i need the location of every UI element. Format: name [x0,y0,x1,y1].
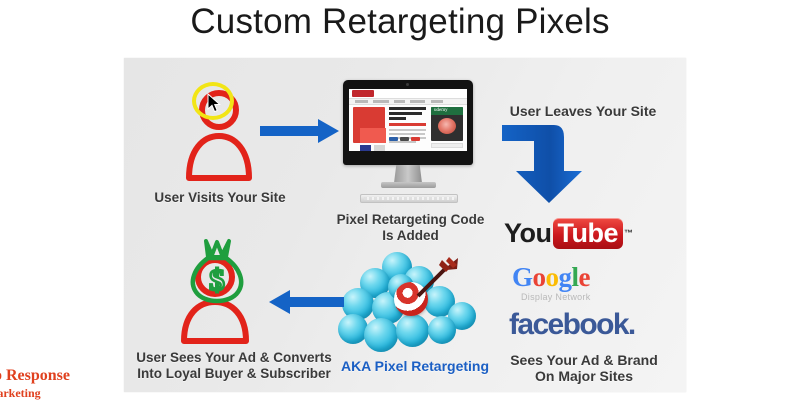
label-user-visits: User Visits Your Site [132,190,308,206]
webpage-header [349,89,467,98]
webcam-dot-icon [406,83,409,86]
label-sees-ad: Sees Your Ad & Brand On Major Sites [487,352,681,384]
webpage-nav [349,98,467,105]
monitor-stand [394,165,422,183]
google-letter-g2: g [559,262,572,292]
facebook-logo: facebook. [509,309,635,341]
youtube-tube-text: Tube [553,218,624,249]
watermark: eb Response Marketing [0,368,70,401]
svg-text:$: $ [209,262,225,297]
youtube-you-text: You [504,218,552,248]
watermark-line-1: eb Response [0,367,70,384]
label-pixel-code: Pixel Retargeting Code Is Added [318,212,503,244]
google-letter-o2: o [546,262,559,292]
webpage-course-card: udemy [431,107,463,141]
google-letter-l: l [572,262,579,292]
arrow-right-icon [260,118,340,149]
google-display-network-subtitle: Display Network [521,292,591,302]
mouse-cursor-icon [207,93,221,118]
money-bag-icon: $ [186,238,248,313]
label-user-converts: User Sees Your Ad & Converts Into Loyal … [125,350,343,382]
label-aka-pixel: AKA Pixel Retargeting [335,358,495,374]
arrow-bent-down-icon [502,123,588,210]
google-letter-o1: o [533,262,546,292]
monitor-bezel: udemy [343,80,473,165]
sphere-cluster-icon [338,252,490,357]
google-letter-e: e [579,262,590,292]
arrow-left-icon [268,289,344,320]
google-logo: Google [512,263,590,292]
webpage-card-caption [431,143,463,148]
webpage-buttons [389,137,420,141]
webpage-book-thumbnail [353,107,385,143]
youtube-logo: YouTube™ [504,218,633,249]
keyboard-icon [360,194,458,203]
page-title: Custom Retargeting Pixels [0,2,800,42]
webpage-logo [352,90,374,97]
youtube-tm-mark: ™ [624,228,633,238]
monitor-base [381,182,436,188]
google-letter-g1: G [512,262,533,292]
watermark-line-2: Marketing [0,385,70,401]
monitor-screen: udemy [349,89,467,151]
label-user-leaves: User Leaves Your Site [490,103,676,119]
dart-icon [416,256,460,305]
